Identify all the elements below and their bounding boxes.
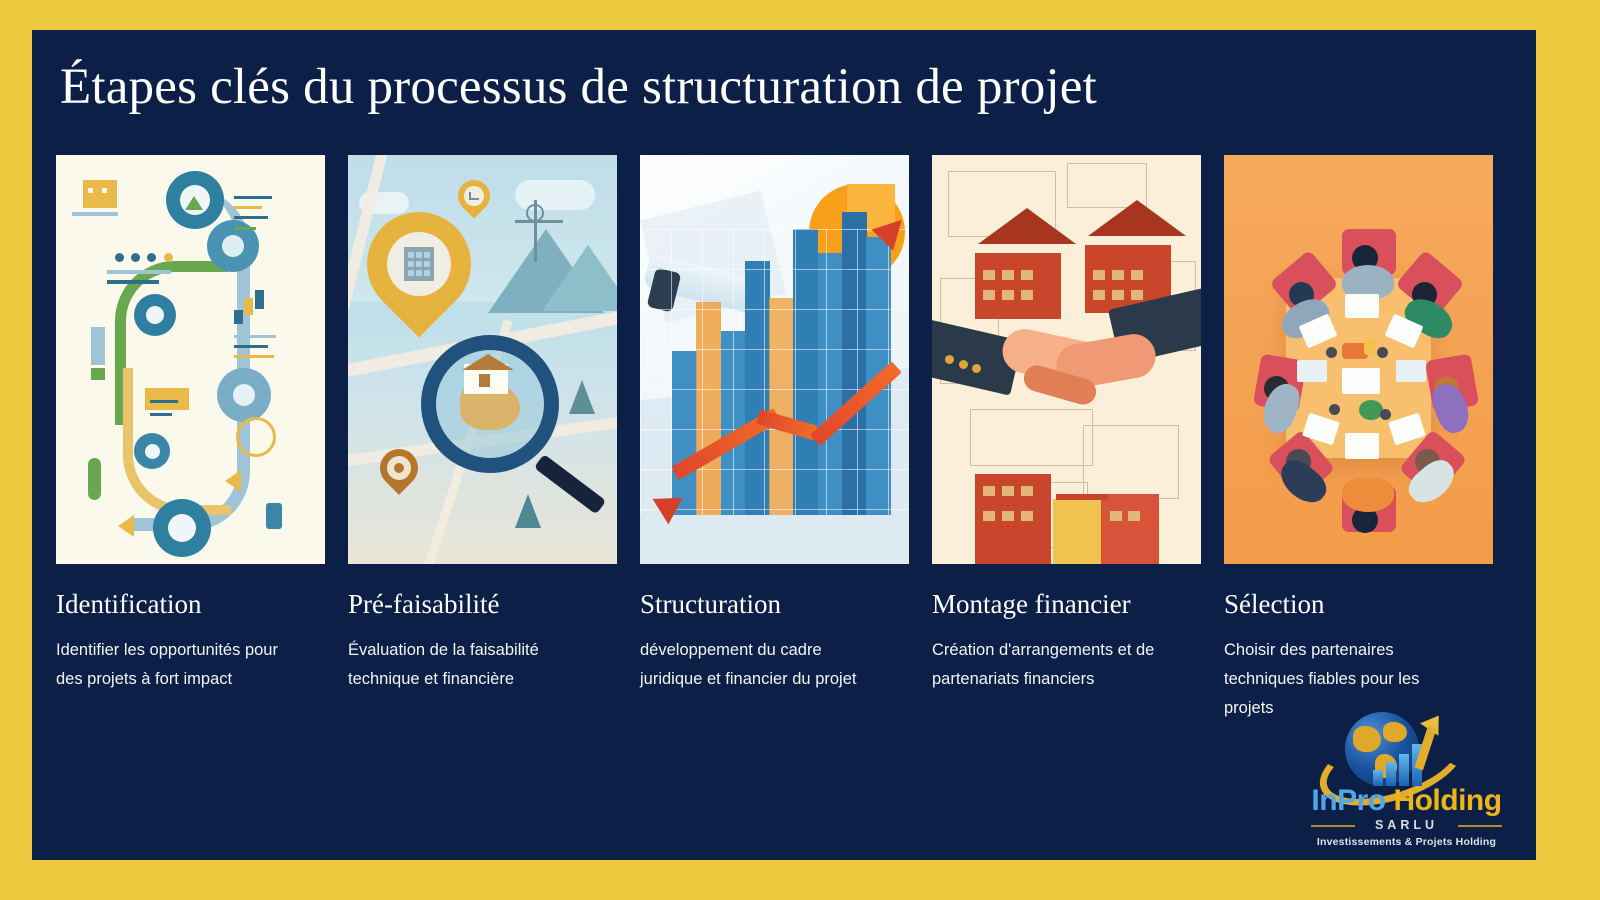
logo-tagline: Investissements & Projets Holding xyxy=(1299,836,1514,848)
card-title: Structuration xyxy=(640,588,932,620)
logo-chart-bar xyxy=(1386,762,1396,786)
step-card-identification[interactable]: Identification Identifier les opportunit… xyxy=(56,155,348,755)
logo-wordmark: InPro Holding xyxy=(1299,784,1514,818)
pre-faisabilite-illustration xyxy=(348,155,617,564)
step-card-pre-faisabilite[interactable]: Pré-faisabilité Évaluation de la faisabi… xyxy=(348,155,640,755)
identification-illustration xyxy=(56,155,325,564)
card-title: Pré-faisabilité xyxy=(348,588,640,620)
structuration-illustration xyxy=(640,155,909,564)
card-description: Création d'arrangements et de partenaria… xyxy=(932,636,1177,694)
card-title: Identification xyxy=(56,588,348,620)
company-logo[interactable]: InPro Holding SARLU Investissements & Pr… xyxy=(1299,708,1514,848)
montage-financier-illustration xyxy=(932,155,1201,564)
card-description: Évaluation de la faisabilité technique e… xyxy=(348,636,593,694)
step-card-structuration[interactable]: Structuration développement du cadre jur… xyxy=(640,155,932,755)
card-title: Montage financier xyxy=(932,588,1224,620)
step-card-montage-financier[interactable]: Montage financier Création d'arrangement… xyxy=(932,155,1224,755)
card-description: Identifier les opportunités pour des pro… xyxy=(56,636,301,694)
logo-name-secondary: Holding xyxy=(1393,784,1501,817)
page-title: Étapes clés du processus de structuratio… xyxy=(60,58,1520,116)
card-description: développement du cadre juridique et fina… xyxy=(640,636,885,694)
infographic-panel: Étapes clés du processus de structuratio… xyxy=(32,30,1536,860)
card-title: Sélection xyxy=(1224,588,1516,620)
step-card-selection[interactable]: Sélection Choisir des partenaires techni… xyxy=(1224,155,1516,755)
logo-name-primary: InPro xyxy=(1311,784,1385,817)
steps-container: Identification Identifier les opportunit… xyxy=(56,155,1516,755)
selection-illustration xyxy=(1224,155,1493,564)
logo-legal-form: SARLU xyxy=(1299,818,1514,832)
logo-chart-bar xyxy=(1399,754,1409,786)
